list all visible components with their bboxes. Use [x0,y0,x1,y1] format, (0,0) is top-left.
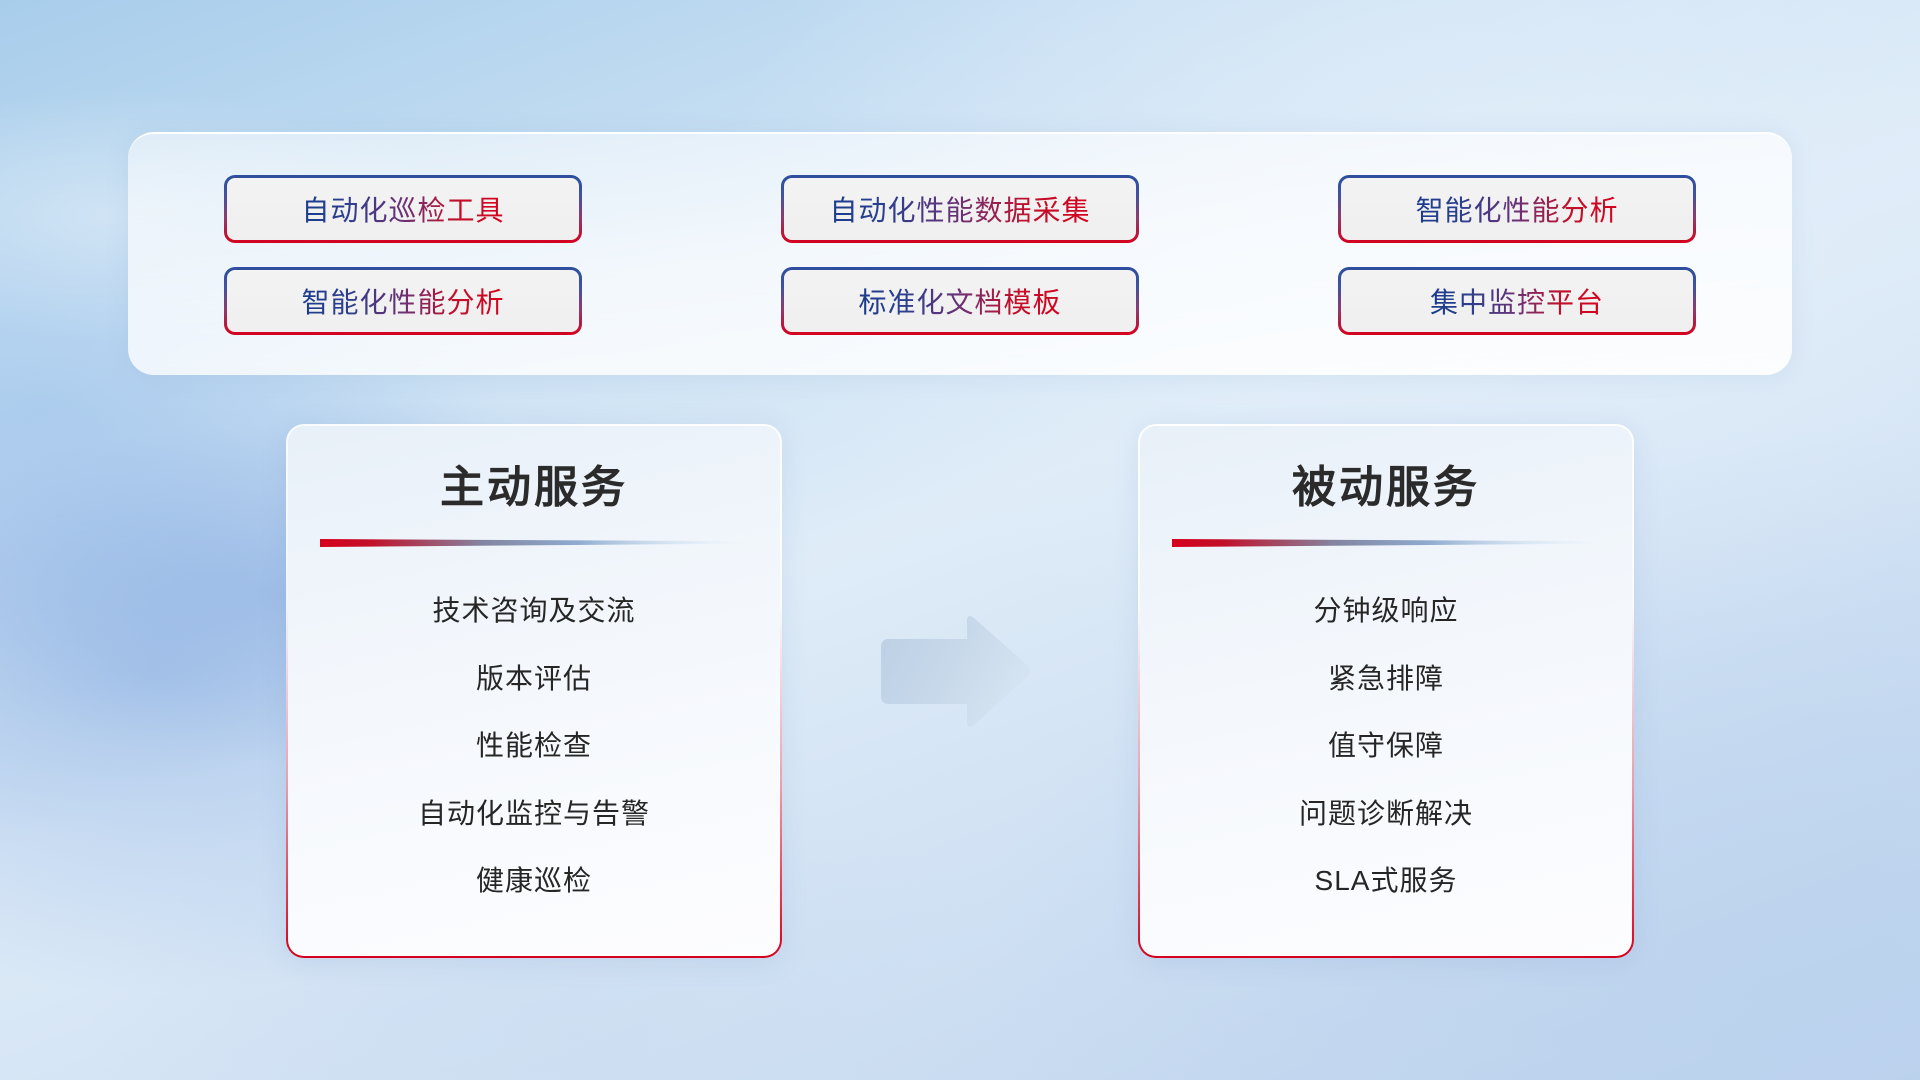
capability-chip-automated-inspection-tool[interactable]: 自动化巡检工具 [224,175,582,243]
list-item: 技术咨询及交流 [318,577,750,645]
capability-panel: 自动化巡检工具 自动化性能数据采集 智能化性能分析 智能化性能分析 标准化文档模… [128,132,1792,375]
capability-chip-intelligent-performance-analysis-top[interactable]: 智能化性能分析 [1338,175,1696,243]
capability-chip-intelligent-performance-analysis[interactable]: 智能化性能分析 [224,267,582,335]
capability-chip-label: 智能化性能分析 [1415,189,1618,229]
capability-chip-label: 智能化性能分析 [301,281,504,321]
service-list-proactive: 技术咨询及交流 版本评估 性能检查 自动化监控与告警 健康巡检 [318,577,750,915]
title-divider [320,537,748,549]
service-list-reactive: 分钟级响应 紧急排障 值守保障 问题诊断解决 SLA式服务 [1170,577,1602,915]
list-item: 问题诊断解决 [1170,780,1602,848]
list-item: 紧急排障 [1170,645,1602,713]
card-title: 主动服务 [318,460,750,515]
title-divider [1172,537,1600,549]
list-item: 健康巡检 [318,847,750,915]
capability-row-2: 智能化性能分析 标准化文档模板 集中监控平台 [224,267,1696,335]
card-title: 被动服务 [1170,460,1602,515]
list-item: 自动化监控与告警 [318,780,750,848]
capability-chip-centralized-monitoring-platform[interactable]: 集中监控平台 [1338,267,1696,335]
capability-chip-label: 自动化巡检工具 [301,189,504,229]
capability-chip-standardized-document-template[interactable]: 标准化文档模板 [781,267,1139,335]
list-item: 值守保障 [1170,712,1602,780]
capability-chip-label: 标准化文档模板 [858,281,1061,321]
list-item: 版本评估 [318,645,750,713]
list-item: 分钟级响应 [1170,577,1602,645]
capability-chip-label: 自动化性能数据采集 [829,189,1090,229]
capability-chip-label: 集中监控平台 [1430,281,1604,321]
arrow-right-icon [873,613,1033,733]
list-item: SLA式服务 [1170,847,1602,915]
capability-row-1: 自动化巡检工具 自动化性能数据采集 智能化性能分析 [224,175,1696,243]
service-card-proactive: 主动服务 技术咨询及交流 版本评估 性能检查 自动化监控与告警 健康巡检 [286,424,782,958]
capability-chip-automated-performance-data-collection[interactable]: 自动化性能数据采集 [781,175,1139,243]
service-card-reactive: 被动服务 分钟级响应 紧急排障 值守保障 问题诊断解决 SLA式服务 [1138,424,1634,958]
list-item: 性能检查 [318,712,750,780]
